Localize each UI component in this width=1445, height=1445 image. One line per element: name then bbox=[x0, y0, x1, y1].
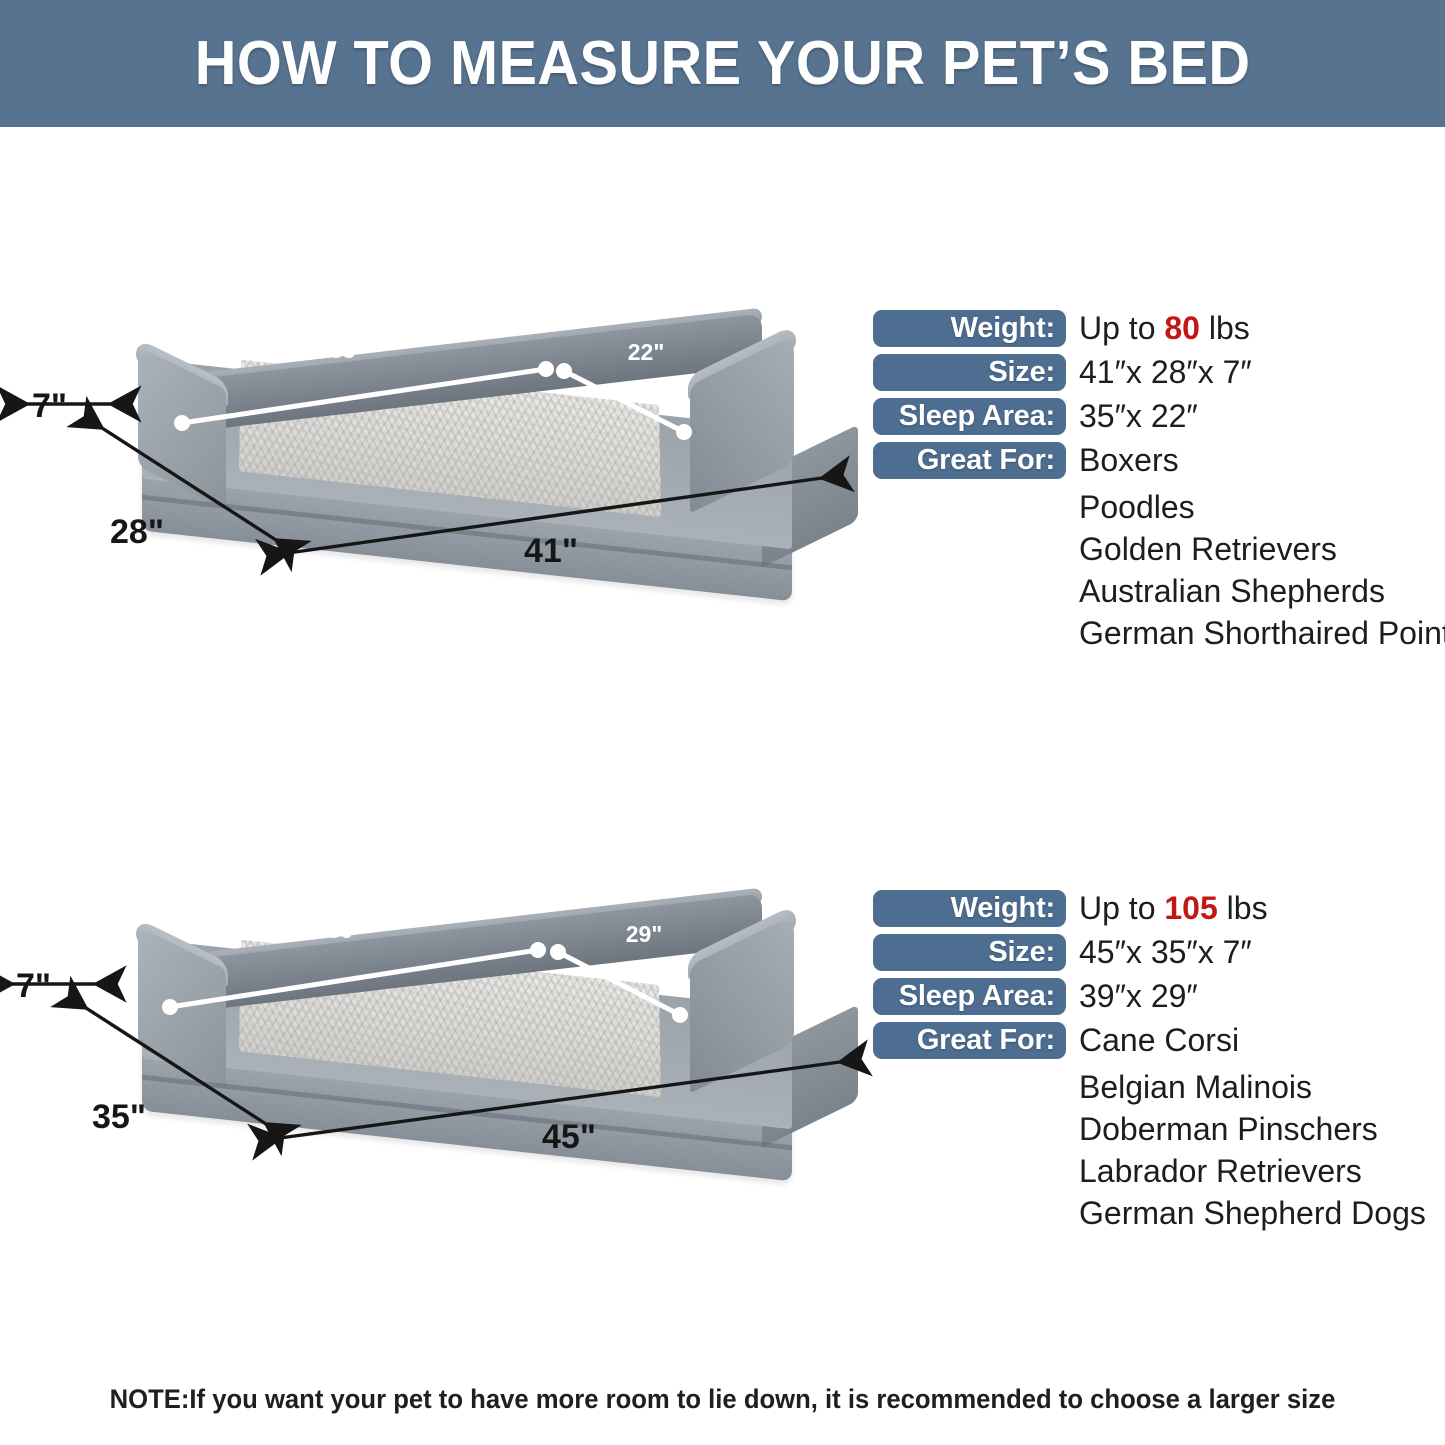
size-value: 45″x 35″x 7″ bbox=[1066, 934, 1252, 971]
breed-item: Belgian Malinois bbox=[1079, 1066, 1438, 1108]
breed-value-0: Boxers bbox=[1066, 442, 1179, 479]
sleep-depth-line bbox=[558, 952, 680, 1015]
length-dim-label: 41" bbox=[524, 532, 578, 570]
spec-row-sleep-area: Sleep Area: 35″x 22″ bbox=[873, 398, 1438, 435]
sleep-depth-label: 22" bbox=[628, 339, 665, 365]
weight-suffix: lbs bbox=[1218, 890, 1268, 926]
product-block-1: 7" 28" 41" 35" 22" Weig bbox=[0, 300, 1445, 720]
breed-item: Doberman Pinschers bbox=[1079, 1108, 1438, 1150]
breed-item: Poodles bbox=[1079, 486, 1438, 528]
great-for-label-badge: Great For: bbox=[873, 1022, 1066, 1059]
spec-row-size: Size: 41″x 28″x 7″ bbox=[873, 354, 1438, 391]
breed-item: Australian Shepherds bbox=[1079, 570, 1438, 612]
weight-label-badge: Weight: bbox=[873, 310, 1066, 347]
weight-value: Up to 105 lbs bbox=[1066, 890, 1268, 927]
size-value: 41″x 28″x 7″ bbox=[1066, 354, 1252, 391]
sleep-length-dot-start bbox=[162, 999, 178, 1015]
sleep-length-label: 39" bbox=[328, 917, 365, 943]
breed-item: German Shepherd Dogs bbox=[1079, 1192, 1438, 1234]
bed-illustration-2: 7" 35" 45" 39" 29" bbox=[30, 880, 860, 1280]
breed-item: Labrador Retrievers bbox=[1079, 1150, 1438, 1192]
spec-row-size: Size: 45″x 35″x 7″ bbox=[873, 934, 1438, 971]
sleep-depth-dot-start bbox=[550, 944, 566, 960]
sleep-length-dot-end bbox=[538, 361, 554, 377]
depth-dim-label: 28" bbox=[110, 513, 164, 551]
sleep-depth-line bbox=[564, 371, 684, 432]
footer-note: NOTE:If you want your pet to have more r… bbox=[36, 1384, 1409, 1415]
sleep-depth-dot-end bbox=[672, 1007, 688, 1023]
breed-list-2: Belgian Malinois Doberman Pinschers Labr… bbox=[873, 1066, 1438, 1234]
weight-suffix: lbs bbox=[1200, 310, 1250, 346]
great-for-label-badge: Great For: bbox=[873, 442, 1066, 479]
spec-row-weight: Weight: Up to 105 lbs bbox=[873, 890, 1438, 927]
size-label-badge: Size: bbox=[873, 934, 1066, 971]
sleep-length-dot-end bbox=[530, 942, 546, 958]
sleep-area-label-badge: Sleep Area: bbox=[873, 978, 1066, 1015]
spec-table-2: Weight: Up to 105 lbs Size: 45″x 35″x 7″… bbox=[873, 890, 1438, 1234]
spec-table-1: Weight: Up to 80 lbs Size: 41″x 28″x 7″ … bbox=[873, 310, 1438, 654]
breed-item: German Shorthaired Pointers bbox=[1079, 612, 1438, 654]
sleep-area-value: 35″x 22″ bbox=[1066, 398, 1198, 435]
sleep-length-dot-start bbox=[174, 415, 190, 431]
spec-row-sleep-area: Sleep Area: 39″x 29″ bbox=[873, 978, 1438, 1015]
weight-prefix: Up to bbox=[1079, 890, 1164, 926]
breed-list-1: Poodles Golden Retrievers Australian She… bbox=[873, 486, 1438, 654]
height-dim-label: 7" bbox=[32, 387, 67, 425]
weight-number: 105 bbox=[1164, 890, 1217, 926]
size-label-badge: Size: bbox=[873, 354, 1066, 391]
product-block-2: 7" 35" 45" 39" 29" Weight: Up to 105 lbs bbox=[0, 880, 1445, 1300]
weight-number: 80 bbox=[1164, 310, 1200, 346]
weight-prefix: Up to bbox=[1079, 310, 1164, 346]
breed-value-0: Cane Corsi bbox=[1066, 1022, 1239, 1059]
weight-value: Up to 80 lbs bbox=[1066, 310, 1250, 347]
sleep-area-value: 39″x 29″ bbox=[1066, 978, 1198, 1015]
sleep-depth-dot-start bbox=[556, 363, 572, 379]
dimension-overlay-2: 7" 35" 45" 39" 29" bbox=[30, 880, 860, 1280]
breed-item: Golden Retrievers bbox=[1079, 528, 1438, 570]
weight-label-badge: Weight: bbox=[873, 890, 1066, 927]
dimension-overlay-1: 7" 28" 41" 35" 22" bbox=[30, 300, 860, 700]
spec-row-great-for: Great For: Cane Corsi bbox=[873, 1022, 1438, 1059]
sleep-length-line bbox=[182, 369, 546, 423]
bed-illustration-1: 7" 28" 41" 35" 22" bbox=[30, 300, 860, 700]
page-title: HOW TO MEASURE YOUR PET’S BED bbox=[195, 28, 1251, 99]
sleep-length-label: 35" bbox=[330, 337, 367, 363]
length-dim-label: 45" bbox=[542, 1118, 596, 1156]
sleep-length-line bbox=[170, 950, 538, 1007]
depth-dim-label: 35" bbox=[92, 1098, 146, 1136]
spec-row-great-for: Great For: Boxers bbox=[873, 442, 1438, 479]
sleep-depth-dot-end bbox=[676, 424, 692, 440]
spec-row-weight: Weight: Up to 80 lbs bbox=[873, 310, 1438, 347]
infographic-page: HOW TO MEASURE YOUR PET’S BED bbox=[0, 0, 1445, 1445]
sleep-area-label-badge: Sleep Area: bbox=[873, 398, 1066, 435]
height-dim-label: 7" bbox=[16, 967, 51, 1005]
header-banner: HOW TO MEASURE YOUR PET’S BED bbox=[0, 0, 1445, 127]
sleep-depth-label: 29" bbox=[626, 921, 663, 947]
